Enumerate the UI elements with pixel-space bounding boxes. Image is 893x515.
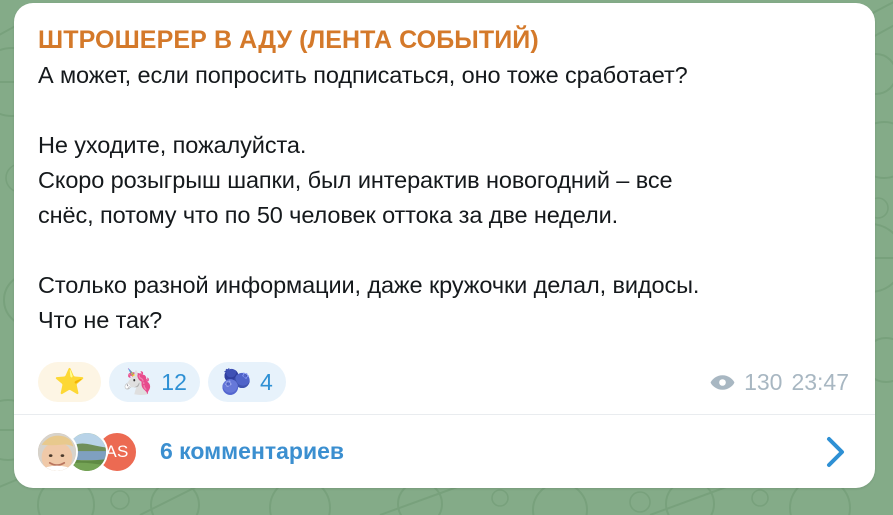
reaction-add-star[interactable]: ⭐ xyxy=(38,362,101,402)
avatar-photo-person xyxy=(36,431,78,473)
views-count: 130 xyxy=(744,369,782,396)
message-meta: 130 23:47 xyxy=(710,369,855,396)
blue-emoji: 🫐 xyxy=(221,370,252,395)
telegram-message-screen: ШТРОШЕРЕР В АДУ (ЛЕНТА СОБЫТИЙ) А может,… xyxy=(0,0,893,515)
eye-icon xyxy=(710,374,735,391)
reaction-blue-emoji-count: 4 xyxy=(260,369,273,396)
unicorn-emoji: 🦄 xyxy=(122,370,153,395)
comments-bar[interactable]: AS 6 комментариев xyxy=(14,414,875,488)
reactions-row: ⭐ 🦄 12 🫐 4 xyxy=(38,362,286,402)
channel-title: ШТРОШЕРЕР В АДУ (ЛЕНТА СОБЫТИЙ) xyxy=(38,25,851,55)
reaction-unicorn[interactable]: 🦄 12 xyxy=(109,362,200,402)
message-body-text: А может, если попросить подписаться, оно… xyxy=(38,58,851,338)
message-timestamp: 23:47 xyxy=(791,369,849,396)
message-footer: ⭐ 🦄 12 🫐 4 130 xyxy=(38,362,855,402)
commenter-avatars: AS xyxy=(36,431,138,473)
comments-label[interactable]: 6 комментариев xyxy=(160,438,823,465)
reaction-blue-emoji[interactable]: 🫐 4 xyxy=(208,362,286,402)
star-emoji: ⭐ xyxy=(54,370,85,395)
message-content: ШТРОШЕРЕР В АДУ (ЛЕНТА СОБЫТИЙ) А может,… xyxy=(14,3,875,414)
message-bubble[interactable]: ШТРОШЕРЕР В АДУ (ЛЕНТА СОБЫТИЙ) А может,… xyxy=(14,3,875,488)
reaction-unicorn-count: 12 xyxy=(161,369,187,396)
chevron-right-icon[interactable] xyxy=(823,435,861,469)
